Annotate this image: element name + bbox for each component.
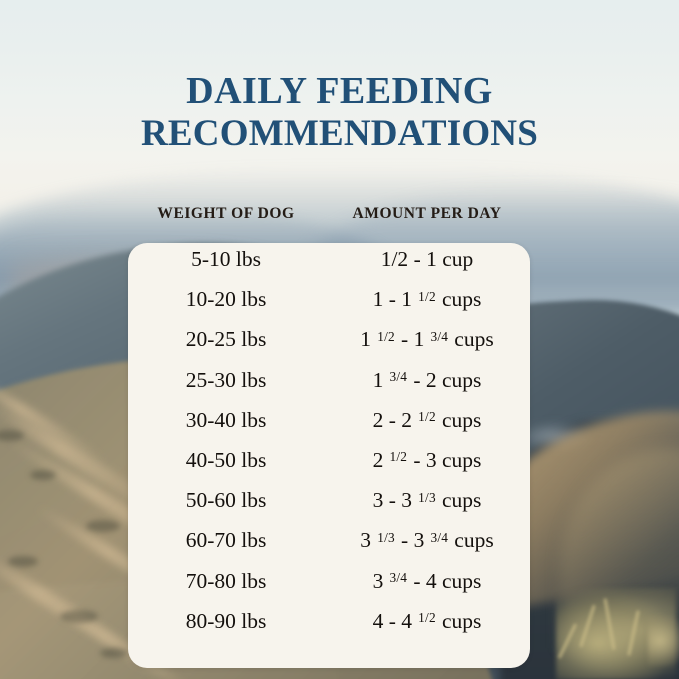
- cell-amount: 4 - 4 1/2 cups: [324, 609, 530, 634]
- cell-amount: 3 3/4 - 4 cups: [324, 569, 530, 594]
- table-row: 40-50 lbs2 1/2 - 3 cups: [128, 448, 530, 488]
- cell-amount: 3 1/3 - 3 3/4 cups: [324, 528, 530, 553]
- table-row: 5-10 lbs1/2 - 1 cup: [128, 247, 530, 287]
- table-header-row: WEIGHT OF DOG AMOUNT PER DAY: [128, 205, 530, 223]
- table-row: 25-30 lbs1 3/4 - 2 cups: [128, 368, 530, 408]
- cell-weight: 50-60 lbs: [128, 488, 324, 513]
- table-row: 10-20 lbs1 - 1 1/2 cups: [128, 287, 530, 327]
- title-line-1: DAILY FEEDING: [0, 70, 679, 113]
- cell-weight: 20-25 lbs: [128, 327, 324, 352]
- cell-amount: 1 - 1 1/2 cups: [324, 287, 530, 312]
- table-row: 70-80 lbs3 3/4 - 4 cups: [128, 569, 530, 609]
- feeding-table-body: 5-10 lbs1/2 - 1 cup10-20 lbs1 - 1 1/2 cu…: [128, 243, 530, 668]
- cell-weight: 80-90 lbs: [128, 609, 324, 634]
- cell-weight: 30-40 lbs: [128, 408, 324, 433]
- table-row: 30-40 lbs2 - 2 1/2 cups: [128, 408, 530, 448]
- table-row: 20-25 lbs1 1/2 - 1 3/4 cups: [128, 327, 530, 367]
- cell-weight: 5-10 lbs: [128, 247, 324, 272]
- cell-weight: 40-50 lbs: [128, 448, 324, 473]
- cell-amount: 2 1/2 - 3 cups: [324, 448, 530, 473]
- cell-amount: 1/2 - 1 cup: [324, 247, 530, 272]
- cell-amount: 3 - 3 1/3 cups: [324, 488, 530, 513]
- table-row: 50-60 lbs3 - 3 1/3 cups: [128, 488, 530, 528]
- cell-weight: 70-80 lbs: [128, 569, 324, 594]
- cell-weight: 10-20 lbs: [128, 287, 324, 312]
- cell-amount: 1 1/2 - 1 3/4 cups: [324, 327, 530, 352]
- cell-amount: 2 - 2 1/2 cups: [324, 408, 530, 433]
- table-row: 60-70 lbs3 1/3 - 3 3/4 cups: [128, 528, 530, 568]
- column-header-weight: WEIGHT OF DOG: [128, 205, 324, 223]
- title-line-2: RECOMMENDATIONS: [0, 113, 679, 155]
- column-header-amount: AMOUNT PER DAY: [324, 205, 530, 223]
- page-title: DAILY FEEDING RECOMMENDATIONS: [0, 70, 679, 155]
- cell-weight: 25-30 lbs: [128, 368, 324, 393]
- table-row: 80-90 lbs4 - 4 1/2 cups: [128, 609, 530, 649]
- cell-amount: 1 3/4 - 2 cups: [324, 368, 530, 393]
- cell-weight: 60-70 lbs: [128, 528, 324, 553]
